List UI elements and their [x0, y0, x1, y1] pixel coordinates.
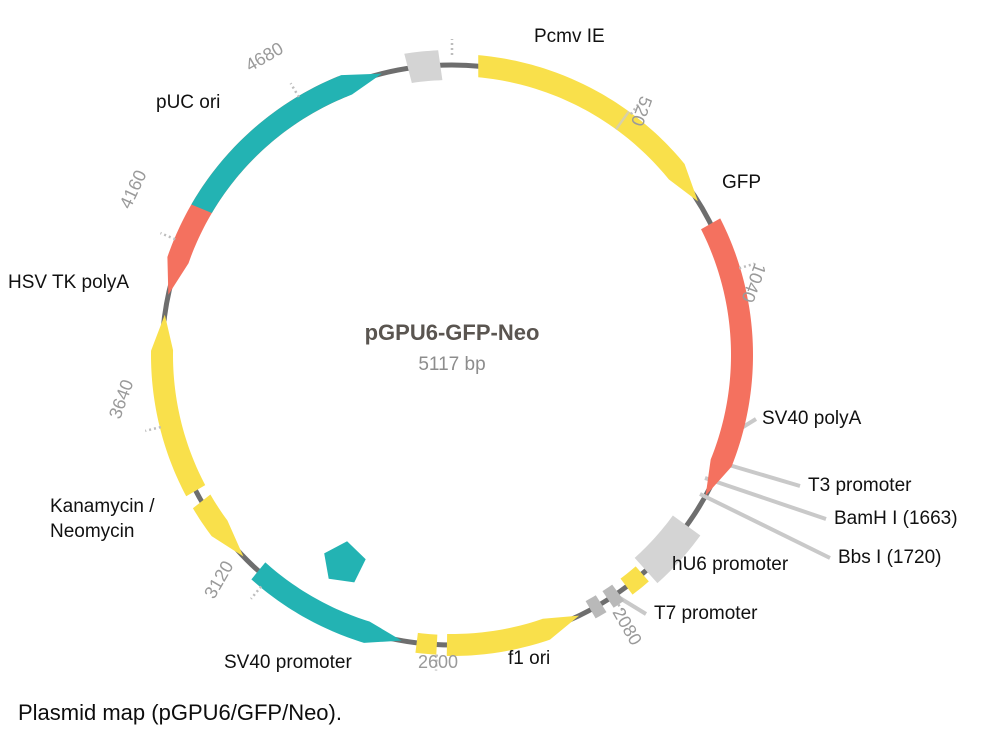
tick-label-3640: 3640	[105, 377, 137, 421]
tick-label-4680: 4680	[242, 38, 287, 75]
tick-label-3120: 3120	[200, 557, 237, 602]
tick-label-520: 520	[627, 94, 656, 129]
tick-mark-3640	[145, 427, 161, 431]
label-gfp: GFP	[722, 172, 761, 193]
leader-line-bbs-i-1720	[700, 494, 830, 558]
label-puc-ori: pUC ori	[156, 92, 220, 113]
plasmid-length: 5117 bp	[418, 354, 485, 375]
plasmid-map-figure: 5201040208026003120364041604680 Pcmv IEG…	[0, 0, 982, 744]
floating-marker	[324, 541, 366, 582]
label-t3-promoter: T3 promoter	[808, 475, 912, 496]
plasmid-title: pGPU6-GFP-Neo	[365, 320, 540, 345]
tick-label-4160: 4160	[115, 167, 150, 212]
label-pcmv-ie: Pcmv IE	[534, 26, 605, 47]
label-f1-ori: f1 ori	[508, 648, 550, 669]
tick-group-520: 520	[627, 94, 656, 129]
label-hsv-tk-polya: HSV TK polyA	[8, 272, 129, 293]
feature-labels: Pcmv IEGFPSV40 polyAT3 promoterBamH I (1…	[8, 26, 958, 673]
pentagon-marker	[324, 541, 366, 582]
label-sv40-promoter: SV40 promoter	[224, 652, 352, 673]
feature-gfp	[701, 218, 753, 495]
feature-pcmv-ie	[478, 55, 698, 201]
label-t7-promoter: T7 promoter	[654, 603, 758, 624]
tick-mark-4160	[160, 233, 175, 239]
tick-mark-4680	[291, 83, 299, 97]
feature-small-arrow	[193, 495, 243, 557]
tick-group-2600: 2600	[418, 652, 458, 672]
tick-group-4160: 4160	[115, 167, 150, 212]
feature-f1-ori	[251, 562, 401, 643]
tick-group-3120: 3120	[200, 557, 237, 602]
tick-group-3640: 3640	[105, 377, 137, 421]
label-kanamycin-neomycin: Kanamycin /Neomycin	[50, 496, 155, 542]
feature-bbs-i-1720	[586, 595, 607, 618]
tick-group-4680: 4680	[242, 38, 287, 75]
feature-hsv-tk-polya	[404, 50, 442, 83]
label-hu6-promoter: hU6 promoter	[672, 554, 789, 575]
label-bamh-i-1663: BamH I (1663)	[834, 508, 958, 529]
tick-mark-3120	[251, 586, 261, 598]
label-sv40-polya: SV40 polyA	[762, 408, 862, 429]
figure-caption: Plasmid map (pGPU6/GFP/Neo).	[18, 700, 342, 726]
label-bbs-i-1720: Bbs I (1720)	[838, 547, 942, 568]
tick-label-2600: 2600	[418, 652, 458, 672]
feature-sv40-promoter	[151, 315, 205, 497]
